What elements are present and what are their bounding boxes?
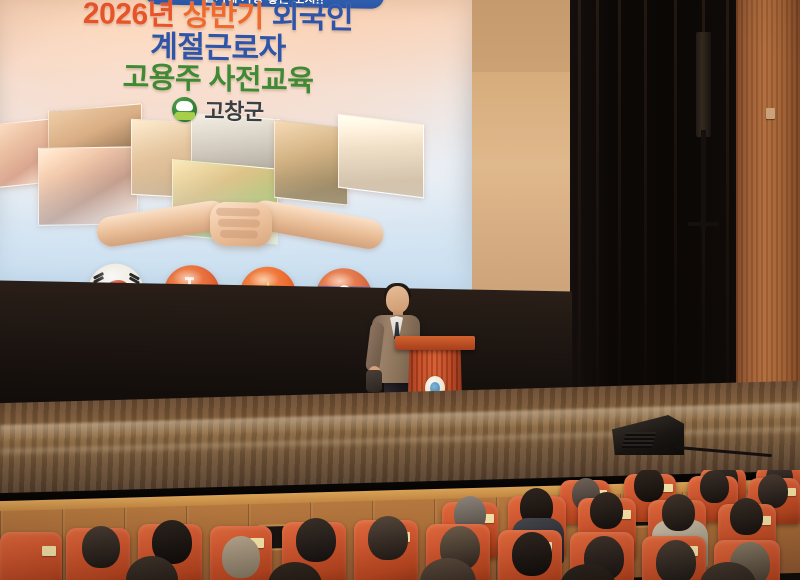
presenter-head bbox=[386, 286, 409, 313]
handshake-graphic bbox=[142, 190, 332, 258]
audience-head bbox=[700, 470, 729, 503]
projection-screen: 살기에 가장 좋은 도시!! 2026년 상반기 외국인 계절근로자 고용주 사… bbox=[0, 0, 472, 295]
seat-number-tag bbox=[42, 546, 56, 556]
county-logo-text: 고창군 bbox=[204, 93, 263, 126]
screen-title-block: 2026년 상반기 외국인 계절근로자 고용주 사전교육 bbox=[0, 0, 444, 100]
wall-outlet bbox=[766, 108, 775, 119]
auditorium-photo: 살기에 가장 좋은 도시!! 2026년 상반기 외국인 계절근로자 고용주 사… bbox=[0, 0, 800, 580]
monitor-grill bbox=[622, 432, 657, 448]
title-seasonal-worker: 계절근로자 bbox=[150, 30, 286, 66]
audience-head bbox=[634, 470, 664, 502]
wood-panel-wall bbox=[736, 0, 800, 420]
audience-head bbox=[758, 474, 788, 508]
audience-head bbox=[222, 536, 260, 578]
podium-top bbox=[395, 336, 475, 350]
presenter-bag bbox=[366, 370, 382, 392]
gochang-county-emblem-icon bbox=[172, 96, 197, 122]
pa-speaker-icon bbox=[696, 32, 711, 137]
speaker-stand-legs bbox=[688, 222, 719, 226]
audience-head bbox=[730, 498, 763, 535]
audience-seating bbox=[0, 470, 800, 580]
audience-head bbox=[296, 518, 336, 562]
audience-head bbox=[368, 516, 408, 560]
stage-curtain bbox=[570, 0, 740, 412]
audience-head bbox=[662, 494, 695, 531]
title-foreigner: 외국인 bbox=[272, 1, 353, 36]
title-year: 2026년 bbox=[83, 0, 183, 32]
audience-head bbox=[512, 532, 552, 576]
audience-head bbox=[656, 540, 696, 580]
audience-head bbox=[590, 492, 623, 529]
title-half: 상반기 bbox=[183, 0, 272, 34]
seat bbox=[0, 532, 62, 580]
speaker-stand-pole bbox=[701, 130, 706, 230]
audience-head bbox=[82, 526, 120, 568]
